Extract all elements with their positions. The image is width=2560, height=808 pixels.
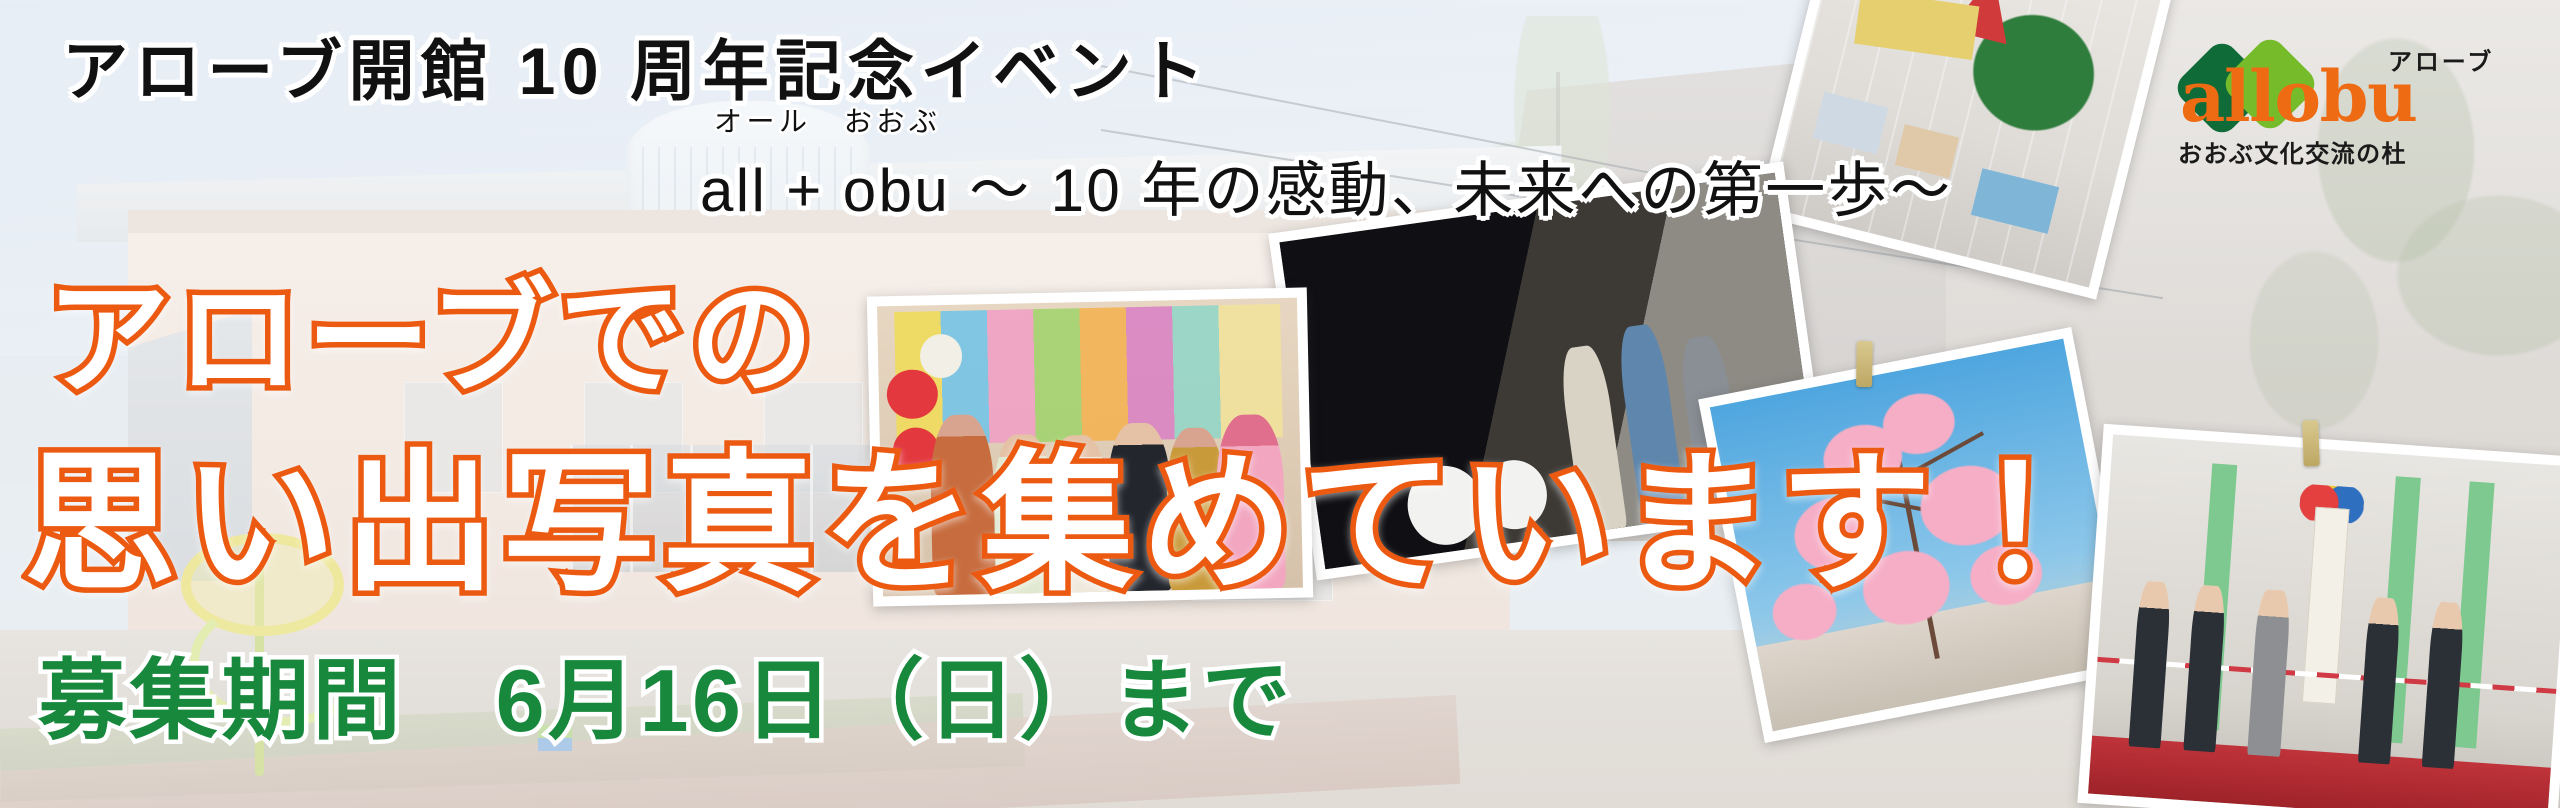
- balloon: [920, 334, 963, 378]
- official-figure: [2183, 584, 2227, 751]
- official-figure: [2128, 581, 2172, 748]
- subtitle-main: all + obu ～ 10 年の感動、未来への第一歩～: [700, 142, 1952, 229]
- event-banner: アローブ開館 10 周年記念イベント オール おおぶ all + obu ～ 1…: [0, 0, 2560, 808]
- ribbon-cutting-photo: [2077, 424, 2560, 808]
- official-figure: [2248, 589, 2292, 756]
- submission-period: 募集期間 6月16日（日）まで: [38, 630, 1294, 757]
- photo-clip: [2302, 420, 2320, 467]
- event-title: アローブ開館 10 周年記念イベント: [62, 18, 1211, 114]
- allobu-logo[interactable]: allobu アローブ おおぶ文化交流の杜: [2174, 14, 2534, 164]
- photo-clip: [1856, 341, 1873, 387]
- logo-kana-reading: アローブ: [2388, 42, 2494, 77]
- ceremony-photo-inner: [2088, 434, 2560, 808]
- headline-line-1: アローブでの: [46, 238, 820, 418]
- subtitle-ruby: オール おおぶ: [714, 100, 941, 140]
- logo-tagline: おおぶ文化交流の杜: [2178, 134, 2407, 169]
- headline-line-2: 思い出写真を集めています！: [24, 400, 2099, 620]
- subtitle-group: オール おおぶ all + obu ～ 10 年の感動、未来への第一歩～: [700, 142, 1952, 229]
- logo-wordmark: allobu: [2180, 62, 2417, 132]
